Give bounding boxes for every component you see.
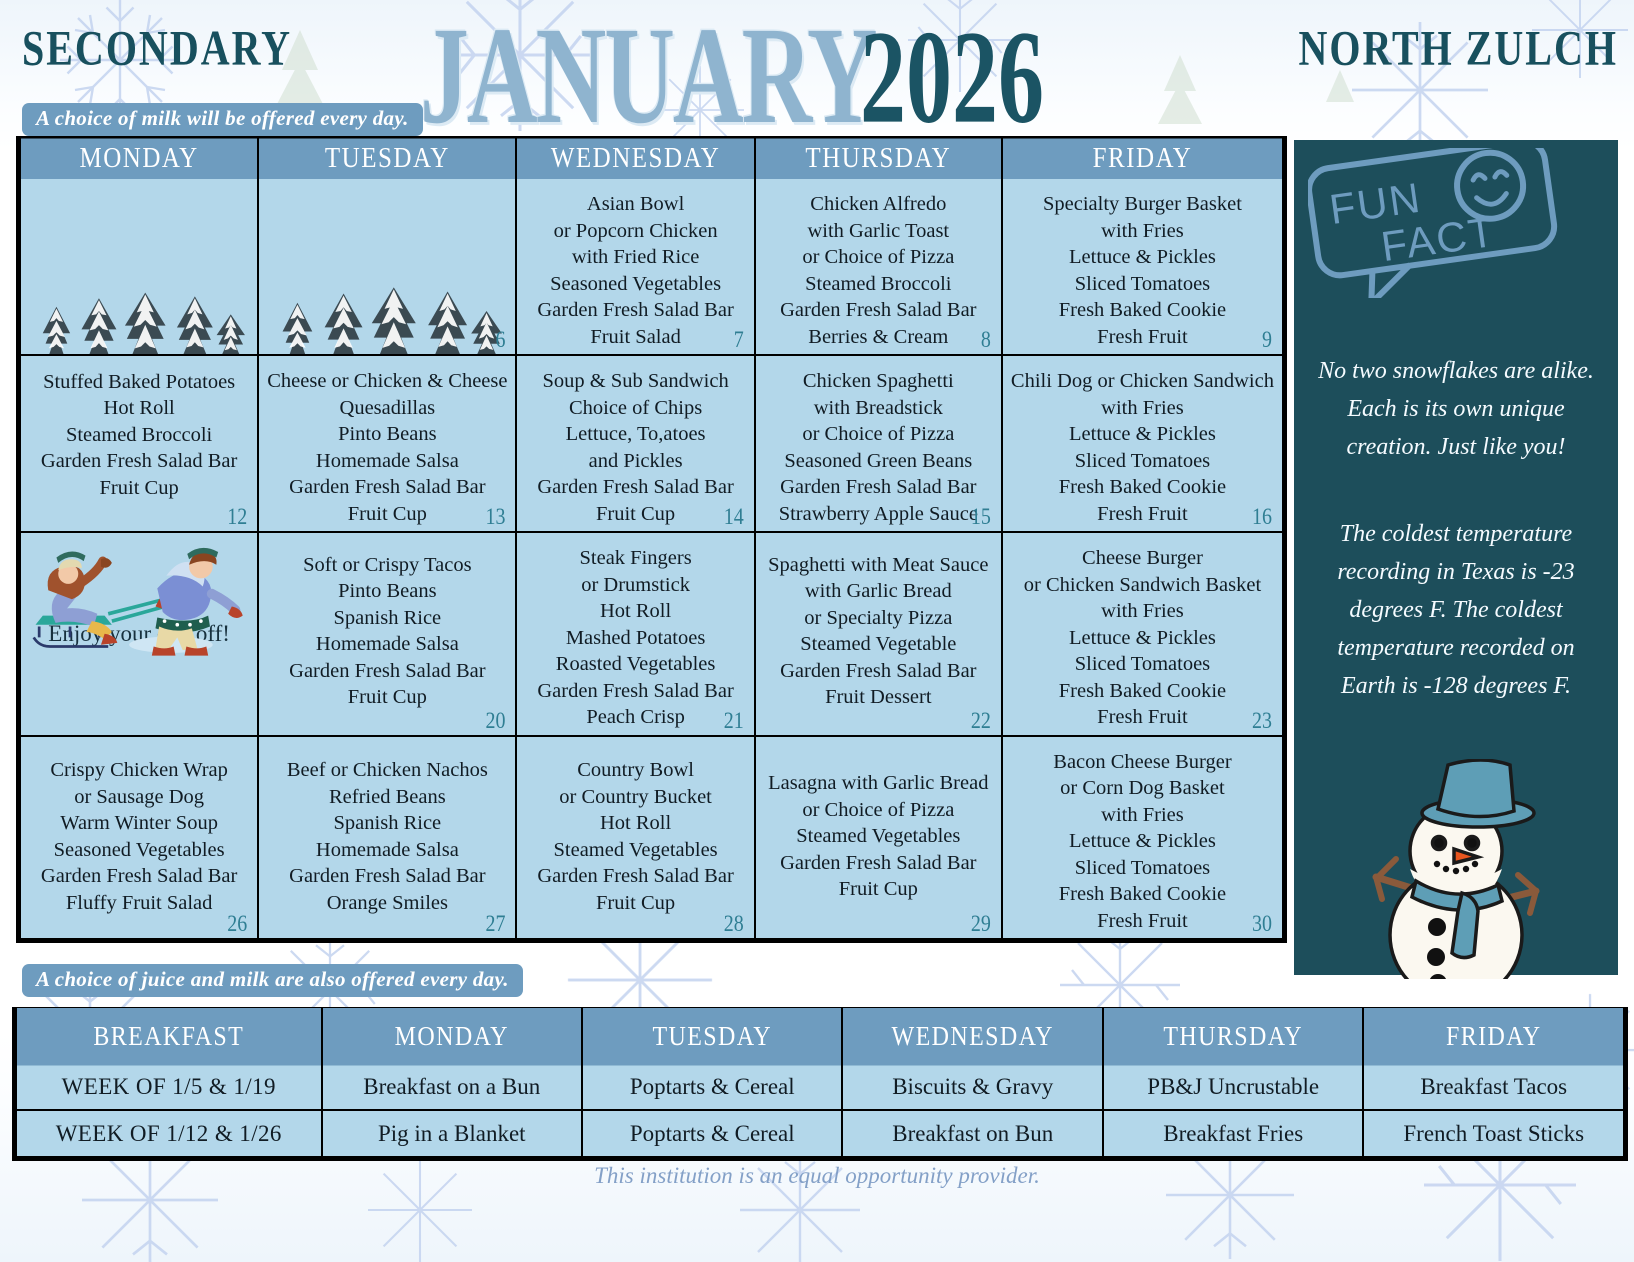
day-number: 15 (971, 504, 991, 530)
breakfast-item-cell: Breakfast on a Bun (322, 1063, 582, 1110)
day-number: 29 (971, 911, 991, 937)
menu-item-line: Fruit Salad (590, 324, 681, 351)
menu-item-line: Specialty Burger Basket (1043, 191, 1242, 218)
menu-item-line: or Country Bucket (559, 784, 712, 811)
menu-item-line: Garden Fresh Salad Bar (780, 658, 976, 685)
menu-item-line: Fluffy Fruit Salad (66, 890, 213, 917)
menu-item-line: Lettuce & Pickles (1069, 244, 1216, 271)
day-cell-content (259, 179, 515, 337)
menu-item-line: Chicken Spaghetti (803, 368, 954, 395)
menu-item-line: Lettuce & Pickles (1069, 421, 1216, 448)
menu-item-line: Homemade Salsa (316, 837, 459, 864)
menu-item-line: Fruit Dessert (825, 684, 931, 711)
day-number: 8 (981, 327, 991, 353)
breakfast-table: BREAKFAST MONDAY TUESDAY WEDNESDAY THURS… (12, 1007, 1628, 1161)
breakfast-item-cell: Pig in a Blanket (322, 1110, 582, 1157)
menu-item-line: Spanish Rice (334, 810, 442, 837)
menu-item-line: with Fries (1101, 395, 1184, 422)
breakfast-header-tuesday: TUESDAY (582, 1007, 842, 1067)
menu-item-line: Garden Fresh Salad Bar (289, 863, 485, 890)
menu-item-line: Garden Fresh Salad Bar (537, 678, 733, 705)
snowman-illustration (1338, 759, 1574, 979)
menu-item-line: with Fried Rice (572, 244, 700, 271)
menu-item-line: or Choice of Pizza (802, 421, 954, 448)
menu-item-line: Homemade Salsa (316, 631, 459, 658)
menu-item-line: or Choice of Pizza (802, 244, 954, 271)
menu-item-line: Fresh Baked Cookie (1059, 474, 1226, 501)
menu-item-line: Fresh Baked Cookie (1059, 881, 1226, 908)
menu-item-line: or Chicken Sandwich Basket (1024, 572, 1261, 599)
month-title: JANUARY (420, 6, 876, 145)
calendar-day-cell[interactable]: Enjoy your day off! (20, 532, 258, 736)
day-cell-content: Asian Bowlor Popcorn Chickenwith Fried R… (517, 179, 753, 354)
menu-item-line: Roasted Vegetables (556, 651, 716, 678)
day-cell-content: Spaghetti with Meat Saucewith Garlic Bre… (756, 533, 1001, 721)
day-cell-content: Soft or Crispy TacosPinto BeansSpanish R… (259, 533, 515, 721)
menu-item-line: Garden Fresh Salad Bar (780, 850, 976, 877)
day-cell-content: Chicken Alfredowith Garlic Toastor Choic… (756, 179, 1001, 354)
day-cell-content: Chili Dog or Chicken Sandwichwith FriesL… (1003, 356, 1282, 531)
menu-item-line: Fresh Fruit (1097, 704, 1188, 731)
breakfast-row: WEEK OF 1/12 & 1/26Pig in a BlanketPopta… (16, 1110, 1624, 1157)
menu-item-line: Garden Fresh Salad Bar (780, 297, 976, 324)
menu-item-line: Refried Beans (329, 784, 446, 811)
juice-note-banner: A choice of juice and milk are also offe… (22, 964, 523, 997)
calendar-week-row: Enjoy your day off!Soft or Crispy TacosP… (20, 532, 1283, 736)
menu-item-line: or Corn Dog Basket (1060, 775, 1225, 802)
menu-item-line: Peach Crisp (586, 704, 685, 731)
menu-item-line: Hot Roll (600, 598, 671, 625)
menu-item-line: Stuffed Baked Potatoes (43, 369, 235, 396)
menu-item-line: Warm Winter Soup (60, 810, 218, 837)
day-cell-content: Country Bowlor Country BucketHot RollSte… (517, 737, 753, 929)
calendar-day-cell[interactable]: 6 (258, 178, 516, 355)
menu-item-line: Lasagna with Garlic Bread (768, 770, 988, 797)
day-header-monday: MONDAY (20, 137, 258, 181)
menu-item-line: Fruit Cup (100, 475, 179, 502)
day-number: 7 (734, 327, 744, 353)
breakfast-week-label: WEEK OF 1/5 & 1/19 (16, 1063, 322, 1110)
menu-item-line: with Fries (1101, 802, 1184, 829)
menu-item-line: Soup & Sub Sandwich (542, 368, 728, 395)
menu-item-line: Chili Dog or Chicken Sandwich (1011, 368, 1274, 395)
day-cell-content: Specialty Burger Basketwith FriesLettuce… (1003, 179, 1282, 354)
menu-item-line: Garden Fresh Salad Bar (537, 474, 733, 501)
breakfast-header-thursday: THURSDAY (1103, 1007, 1363, 1067)
menu-item-line: Steamed Vegetable (800, 631, 956, 658)
breakfast-header-label: BREAKFAST (16, 1007, 322, 1067)
calendar-day-cell[interactable]: Chicken Alfredowith Garlic Toastor Choic… (755, 178, 1002, 355)
breakfast-week-label: WEEK OF 1/12 & 1/26 (16, 1110, 322, 1157)
menu-item-line: Garden Fresh Salad Bar (537, 297, 733, 324)
menu-item-line: Sliced Tomatoes (1075, 448, 1210, 475)
menu-item-line: Pinto Beans (338, 421, 437, 448)
menu-item-line: and Pickles (589, 448, 683, 475)
day-number: 16 (1252, 504, 1272, 530)
calendar-day-cell[interactable]: Spaghetti with Meat Saucewith Garlic Bre… (755, 532, 1002, 736)
calendar-day-cell[interactable]: Country Bowlor Country BucketHot RollSte… (516, 736, 754, 940)
breakfast-row: WEEK OF 1/5 & 1/19Breakfast on a BunPopt… (16, 1063, 1624, 1110)
day-number: 30 (1252, 911, 1272, 937)
day-cell-content: Chicken Spaghettiwith Breadstickor Choic… (756, 356, 1001, 531)
breakfast-header-friday: FRIDAY (1363, 1007, 1624, 1067)
menu-item-line: Fresh Fruit (1097, 324, 1188, 351)
menu-item-line: Fresh Fruit (1097, 501, 1188, 528)
breakfast-item-cell: PB&J Uncrustable (1103, 1063, 1363, 1110)
calendar-day-cell[interactable]: Steak Fingersor DrumstickHot RollMashed … (516, 532, 754, 736)
menu-item-line: Fresh Baked Cookie (1059, 297, 1226, 324)
menu-item-line: or Drumstick (581, 572, 690, 599)
calendar-day-cell[interactable]: Crispy Chicken Wrapor Sausage DogWarm Wi… (20, 736, 258, 940)
menu-item-line: Bacon Cheese Burger (1053, 749, 1231, 776)
menu-item-line: Garden Fresh Salad Bar (780, 474, 976, 501)
day-cell-content: Crispy Chicken Wrapor Sausage DogWarm Wi… (21, 737, 257, 929)
breakfast-item-cell: Breakfast Tacos (1363, 1063, 1624, 1110)
menu-item-line: Garden Fresh Salad Bar (289, 658, 485, 685)
day-cell-content: Stuffed Baked PotatoesHot RollSteamed Br… (21, 356, 257, 506)
menu-item-line: with Fries (1101, 598, 1184, 625)
menu-item-line: Sliced Tomatoes (1075, 855, 1210, 882)
snowy-trees-icon (259, 214, 515, 354)
menu-item-line: with Garlic Toast (807, 218, 949, 245)
menu-item-line: Steak Fingers (580, 545, 692, 572)
menu-item-line: Chicken Alfredo (810, 191, 946, 218)
menu-item-line: Fruit Cup (348, 684, 427, 711)
menu-item-line: with Breadstick (814, 395, 943, 422)
menu-item-line: Asian Bowl (587, 191, 684, 218)
day-cell-content (21, 179, 257, 337)
menu-item-line: Seasoned Green Beans (784, 448, 972, 475)
fun-fact-sidebar: FUN FACT No two snowflakes are alike. Ea… (1294, 140, 1618, 975)
snowy-trees-icon (21, 214, 257, 354)
menu-item-line: Hot Roll (104, 395, 175, 422)
calendar-day-cell[interactable]: Soft or Crispy TacosPinto BeansSpanish R… (258, 532, 516, 736)
fun-fact-speech-bubble-icon: FUN FACT (1308, 148, 1558, 298)
day-number: 28 (724, 911, 744, 937)
menu-item-line: Quesadillas (340, 395, 436, 422)
menu-item-line: Country Bowl (577, 757, 694, 784)
menu-item-line: Fresh Fruit (1097, 908, 1188, 935)
menu-item-line: Pinto Beans (338, 578, 437, 605)
menu-item-line: or Specialty Pizza (804, 605, 952, 632)
menu-item-line: Garden Fresh Salad Bar (41, 863, 237, 890)
menu-item-line: Steamed Vegetables (796, 823, 960, 850)
menu-item-line: Fruit Cup (596, 890, 675, 917)
calendar-day-cell[interactable]: Cheese or Chicken & CheeseQuesadillasPin… (258, 355, 516, 532)
day-number: 22 (971, 708, 991, 734)
menu-item-line: or Popcorn Chicken (554, 218, 718, 245)
calendar-day-cell[interactable]: Chili Dog or Chicken Sandwichwith FriesL… (1002, 355, 1283, 532)
day-cell-content: Soup & Sub SandwichChoice of ChipsLettuc… (517, 356, 753, 531)
menu-item-line: Fruit Cup (839, 876, 918, 903)
calendar-day-cell[interactable] (20, 178, 258, 355)
menu-item-line: Seasoned Vegetables (550, 271, 721, 298)
calendar-day-cell[interactable]: Soup & Sub SandwichChoice of ChipsLettuc… (516, 355, 754, 532)
menu-item-line: Berries & Cream (808, 324, 948, 351)
breakfast-item-cell: Biscuits & Gravy (842, 1063, 1102, 1110)
menu-item-line: Soft or Crispy Tacos (303, 552, 471, 579)
day-cell-content: Beef or Chicken NachosRefried BeansSpani… (259, 737, 515, 929)
calendar-week-row: 6Asian Bowlor Popcorn Chickenwith Fried … (20, 178, 1283, 355)
day-number: 21 (724, 708, 744, 734)
day-header-friday: FRIDAY (1002, 137, 1283, 181)
year-title: 2026 (860, 10, 1044, 143)
menu-item-line: Hot Roll (600, 810, 671, 837)
menu-item-line: Spanish Rice (334, 605, 442, 632)
menu-item-line: or Choice of Pizza (802, 797, 954, 824)
breakfast-header-wednesday: WEDNESDAY (842, 1007, 1102, 1067)
calendar-day-cell[interactable]: Asian Bowlor Popcorn Chickenwith Fried R… (516, 178, 754, 355)
menu-item-line: Steamed Broccoli (805, 271, 951, 298)
menu-item-line: Spaghetti with Meat Sauce (768, 552, 988, 579)
menu-item-line: Beef or Chicken Nachos (287, 757, 488, 784)
menu-item-line: Mashed Potatoes (566, 625, 706, 652)
menu-item-line: Choice of Chips (569, 395, 702, 422)
day-cell-content: Cheese Burgeror Chicken Sandwich Basketw… (1003, 533, 1282, 735)
day-number: 13 (485, 504, 505, 530)
calendar-day-cell[interactable]: Stuffed Baked PotatoesHot RollSteamed Br… (20, 355, 258, 532)
day-number: 12 (227, 504, 247, 530)
day-number: 26 (227, 911, 247, 937)
breakfast-item-cell: Breakfast Fries (1103, 1110, 1363, 1157)
equal-opportunity-footer: This institution is an equal opportunity… (0, 1163, 1634, 1189)
menu-item-line: Steamed Vegetables (554, 837, 718, 864)
day-number: 14 (724, 504, 744, 530)
menu-item-line: Homemade Salsa (316, 448, 459, 475)
breakfast-item-cell: Breakfast on Bun (842, 1110, 1102, 1157)
menu-item-line: Steamed Broccoli (66, 422, 212, 449)
day-cell-content: Bacon Cheese Burgeror Corn Dog Basketwit… (1003, 737, 1282, 939)
day-cell-content: Steak Fingersor DrumstickHot RollMashed … (517, 533, 753, 735)
breakfast-item-cell: French Toast Sticks (1363, 1110, 1624, 1157)
menu-item-line: or Sausage Dog (74, 784, 204, 811)
menu-item-line: Cheese Burger (1082, 545, 1203, 572)
milk-note-banner: A choice of milk will be offered every d… (22, 103, 423, 136)
menu-item-line: Garden Fresh Salad Bar (537, 863, 733, 890)
fun-fact-text-2: The coldest temperature recording in Tex… (1308, 515, 1604, 705)
breakfast-item-cell: Poptarts & Cereal (582, 1063, 842, 1110)
menu-item-line: Lettuce, To,atoes (566, 421, 706, 448)
calendar-week-row: Crispy Chicken Wrapor Sausage DogWarm Wi… (20, 736, 1283, 940)
calendar-day-cell[interactable]: Beef or Chicken NachosRefried BeansSpani… (258, 736, 516, 940)
day-number: 27 (485, 911, 505, 937)
day-number: 9 (1262, 327, 1272, 353)
menu-item-line: with Fries (1101, 218, 1184, 245)
menu-item-line: Cheese or Chicken & Cheese (267, 368, 507, 395)
lunch-calendar: MONDAY TUESDAY WEDNESDAY THURSDAY FRIDAY (16, 136, 1287, 943)
calendar-day-cell[interactable]: Lasagna with Garlic Breador Choice of Pi… (755, 736, 1002, 940)
day-cell-content: Cheese or Chicken & CheeseQuesadillasPin… (259, 356, 515, 531)
menu-item-line: Seasoned Vegetables (54, 837, 225, 864)
menu-item-line: Strawberry Apple Sauce (779, 501, 978, 528)
day-cell-content: Lasagna with Garlic Breador Choice of Pi… (756, 737, 1001, 929)
breakfast-header-monday: MONDAY (322, 1007, 582, 1067)
menu-item-line: Sliced Tomatoes (1075, 651, 1210, 678)
breakfast-item-cell: Poptarts & Cereal (582, 1110, 842, 1157)
calendar-day-cell[interactable]: Cheese Burgeror Chicken Sandwich Basketw… (1002, 532, 1283, 736)
menu-item-line: Lettuce & Pickles (1069, 625, 1216, 652)
menu-item-line: Fruit Cup (348, 501, 427, 528)
menu-item-line: with Garlic Bread (805, 578, 952, 605)
day-number: 23 (1252, 708, 1272, 734)
breakfast-header-row: BREAKFAST MONDAY TUESDAY WEDNESDAY THURS… (16, 1011, 1624, 1063)
menu-item-line: Garden Fresh Salad Bar (289, 474, 485, 501)
day-number: 6 (495, 327, 505, 353)
fun-fact-text-1: No two snowflakes are alike. Each is its… (1312, 352, 1600, 466)
menu-item-line: Orange Smiles (327, 890, 448, 917)
menu-item-line: Fresh Baked Cookie (1059, 678, 1226, 705)
menu-item-line: Sliced Tomatoes (1075, 271, 1210, 298)
day-cell-content: Enjoy your day off! (21, 533, 257, 721)
menu-item-line: Garden Fresh Salad Bar (41, 448, 237, 475)
menu-item-line: Crispy Chicken Wrap (50, 757, 228, 784)
calendar-week-row: Stuffed Baked PotatoesHot RollSteamed Br… (20, 355, 1283, 532)
calendar-day-cell[interactable]: Chicken Spaghettiwith Breadstickor Choic… (755, 355, 1002, 532)
calendar-day-cell[interactable]: Specialty Burger Basketwith FriesLettuce… (1002, 178, 1283, 355)
menu-item-line: Lettuce & Pickles (1069, 828, 1216, 855)
menu-item-line: Fruit Cup (596, 501, 675, 528)
sledding-kids-icon (21, 537, 257, 667)
school-level-label: SECONDARY (22, 18, 292, 77)
day-number: 20 (485, 708, 505, 734)
calendar-day-cell[interactable]: Bacon Cheese Burgeror Corn Dog Basketwit… (1002, 736, 1283, 940)
district-name-label: NORTH ZULCH (1298, 18, 1618, 77)
